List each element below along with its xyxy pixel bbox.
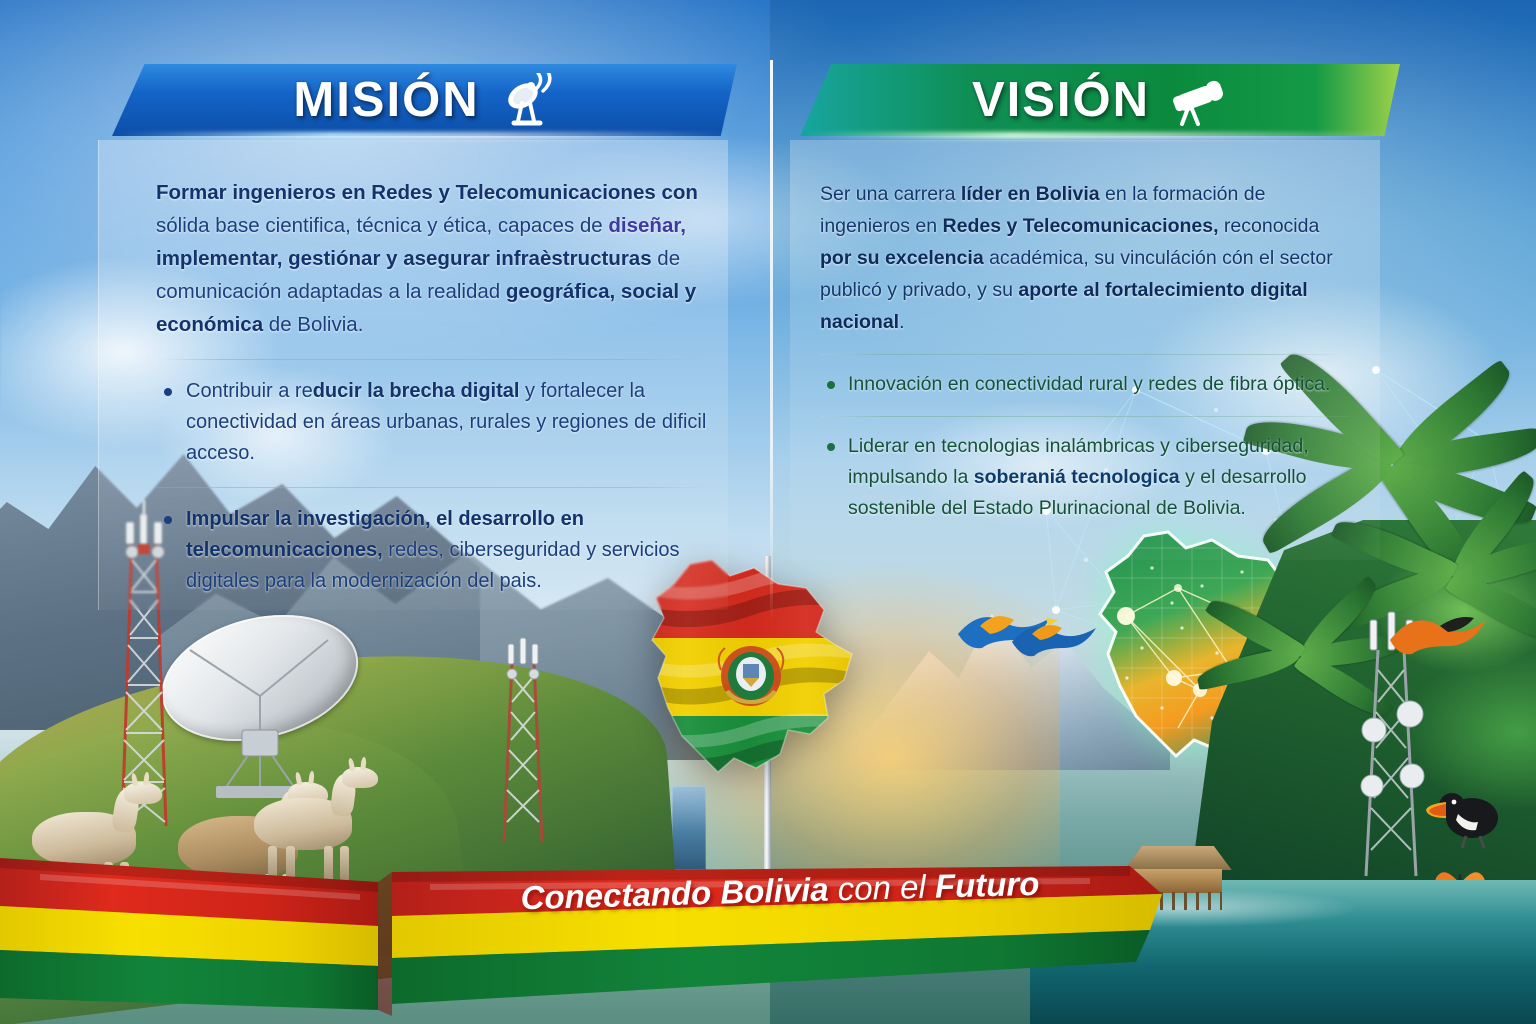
list-item: Liderar en tecnologias inalámbricas y ci… bbox=[820, 431, 1350, 524]
mision-content: Formar ingenieros en Redes y Telecomunic… bbox=[156, 176, 716, 597]
mision-banner-glow bbox=[116, 132, 734, 139]
toucan-flying-icon bbox=[1380, 600, 1490, 660]
vision-divider-2 bbox=[820, 416, 1350, 417]
slogan-part-1: Conectando Bolivia bbox=[520, 871, 829, 917]
satellite-dish-icon bbox=[500, 73, 556, 127]
macaw-bird-2 bbox=[1006, 612, 1102, 662]
vision-header-banner: VISIÓN bbox=[800, 64, 1400, 136]
mision-bullet-list-2: Impulsar la investigación, el desarrollo… bbox=[156, 504, 716, 597]
vision-banner-glow bbox=[804, 132, 1400, 139]
vision-bullet-1: Innovación en conectividad rural y redes… bbox=[848, 373, 1330, 395]
mision-bullet-1: Contribuir a reducir la brecha digital y… bbox=[186, 380, 706, 464]
vision-bullet-list-2: Liderar en tecnologias inalámbricas y ci… bbox=[820, 431, 1350, 524]
vision-divider-1 bbox=[820, 354, 1350, 355]
list-item: Impulsar la investigación, el desarrollo… bbox=[156, 504, 716, 597]
slogan-part-2: con el bbox=[828, 868, 935, 908]
mision-bullet-list: Contribuir a reducir la brecha digital y… bbox=[156, 376, 716, 469]
bullet-dot-icon bbox=[164, 516, 172, 524]
vision-bullet-list: Innovación en conectividad rural y redes… bbox=[820, 369, 1350, 400]
list-item: Contribuir a reducir la brecha digital y… bbox=[156, 376, 716, 469]
vision-bullet-2: Liderar en tecnologias inalámbricas y ci… bbox=[848, 435, 1309, 519]
vision-lead-text: Ser una carrera líder en Bolivia en la f… bbox=[820, 178, 1350, 338]
bolivia-flag-ribbon bbox=[0, 838, 1536, 1024]
slogan-part-3: Futuro bbox=[934, 865, 1039, 905]
panel-divider bbox=[770, 60, 773, 620]
bullet-dot-icon bbox=[827, 443, 835, 451]
bullet-dot-icon bbox=[827, 381, 835, 389]
telescope-icon bbox=[1170, 74, 1228, 126]
mision-header-banner: MISIÓN bbox=[112, 64, 737, 136]
mision-lead-text: Formar ingenieros en Redes y Telecomunic… bbox=[156, 176, 716, 341]
vision-content: Ser una carrera líder en Bolivia en la f… bbox=[820, 178, 1350, 524]
vision-title: VISIÓN bbox=[972, 72, 1150, 128]
list-item: Innovación en conectividad rural y redes… bbox=[820, 369, 1350, 400]
mision-bullet-2: Impulsar la investigación, el desarrollo… bbox=[186, 508, 680, 592]
telecom-tower-center bbox=[496, 636, 550, 846]
bullet-dot-icon bbox=[164, 388, 172, 396]
mision-divider-2 bbox=[156, 487, 716, 488]
infographic-canvas: MISIÓN VISIÓN bbox=[0, 0, 1536, 1024]
mision-divider-1 bbox=[156, 359, 716, 360]
mision-title: MISIÓN bbox=[293, 72, 479, 128]
